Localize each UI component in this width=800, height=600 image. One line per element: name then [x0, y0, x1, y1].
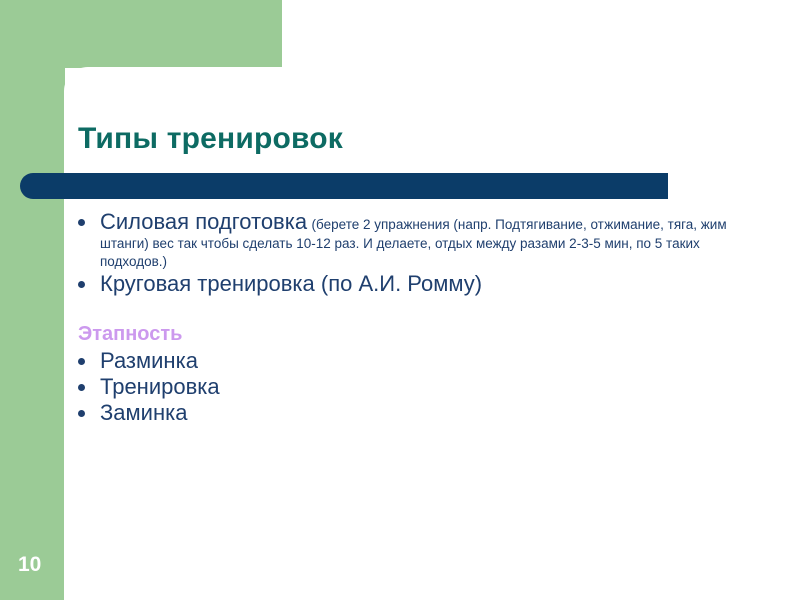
bullet-dot-icon [78, 349, 100, 365]
list-item: Силовая подготовка (берете 2 упражнения … [78, 210, 768, 271]
bullet-dot-icon [78, 272, 100, 288]
bullet-text: Силовая подготовка (берете 2 упражнения … [100, 210, 768, 271]
title-underline-bar [20, 173, 668, 199]
green-sidebar-decoration [0, 0, 65, 600]
bullet-dot-icon [78, 375, 100, 391]
vertical-spacer [78, 297, 768, 323]
bullet-lead-text: Тренировка [100, 375, 768, 400]
section-heading: Этапность [78, 323, 768, 346]
list-item: Разминка [78, 349, 768, 374]
bullet-dot-icon [78, 401, 100, 417]
page-title: Типы тренировок [78, 122, 343, 156]
bullet-dot-icon [78, 210, 100, 226]
bullet-text: Круговая тренировка (по А.И. Ромму) [100, 272, 768, 297]
slide-body: Силовая подготовка (берете 2 упражнения … [78, 210, 768, 426]
list-item: Тренировка [78, 375, 768, 400]
bullet-lead-text: Круговая тренировка (по А.И. Ромму) [100, 271, 482, 296]
bullet-lead-text: Заминка [100, 401, 768, 426]
list-item: Круговая тренировка (по А.И. Ромму) [78, 272, 768, 297]
bullet-lead-text: Разминка [100, 349, 768, 374]
presentation-slide: Типы тренировок Силовая подготовка (бере… [0, 0, 800, 600]
slide-number: 10 [18, 553, 41, 577]
list-item: Заминка [78, 401, 768, 426]
bullet-lead-text: Силовая подготовка [100, 209, 307, 234]
